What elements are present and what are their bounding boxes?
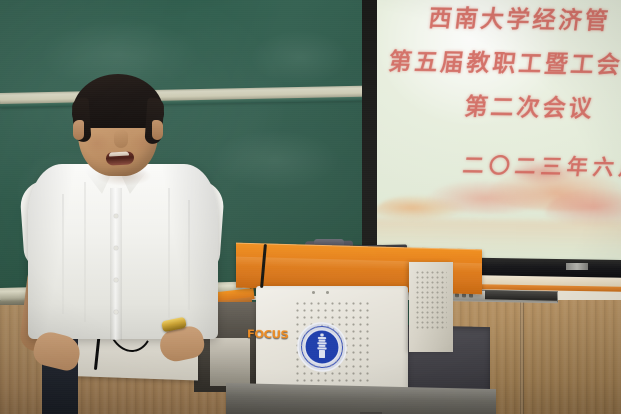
ear-right xyxy=(152,120,163,140)
focus-brand-label: FOCUS xyxy=(247,327,288,341)
pc-tower xyxy=(409,262,453,352)
shirt-button xyxy=(114,278,118,282)
university-emblem xyxy=(297,321,347,372)
white-shirt xyxy=(28,164,218,339)
head xyxy=(72,76,164,180)
lectern-base xyxy=(226,383,496,414)
slide-line-1: 西南大学经济管 xyxy=(427,0,613,36)
speaker xyxy=(10,76,240,336)
shirt-button xyxy=(114,246,118,250)
wainscot-seam xyxy=(520,300,524,414)
screen-brand-badge xyxy=(566,263,588,270)
control-button[interactable] xyxy=(455,293,459,297)
nose xyxy=(114,130,128,148)
shirt-button xyxy=(114,214,118,218)
chin-shadow xyxy=(96,166,152,186)
shirt-button xyxy=(114,310,118,314)
shirt-placket xyxy=(110,188,122,340)
projection-screen: 西南大学经济管 第五届教职工暨工会会 第二次会议 二〇二三年六月 xyxy=(377,0,621,262)
slide-line-3: 第二次会议 xyxy=(463,88,597,124)
photo-scene: 西南大学经济管 第五届教职工暨工会会 第二次会议 二〇二三年六月 xyxy=(0,0,621,414)
slide-line-2: 第五届教职工暨工会会 xyxy=(387,42,621,80)
slide-line-4: 二〇二三年六月 xyxy=(461,149,621,182)
av-control-display xyxy=(485,290,557,300)
ear-left xyxy=(73,120,84,140)
lectern-inner-panel xyxy=(210,338,250,386)
slide-text: 西南大学经济管 第五届教职工暨工会会 第二次会议 二〇二三年六月 xyxy=(377,0,621,262)
pc-tower-grille xyxy=(415,270,447,330)
